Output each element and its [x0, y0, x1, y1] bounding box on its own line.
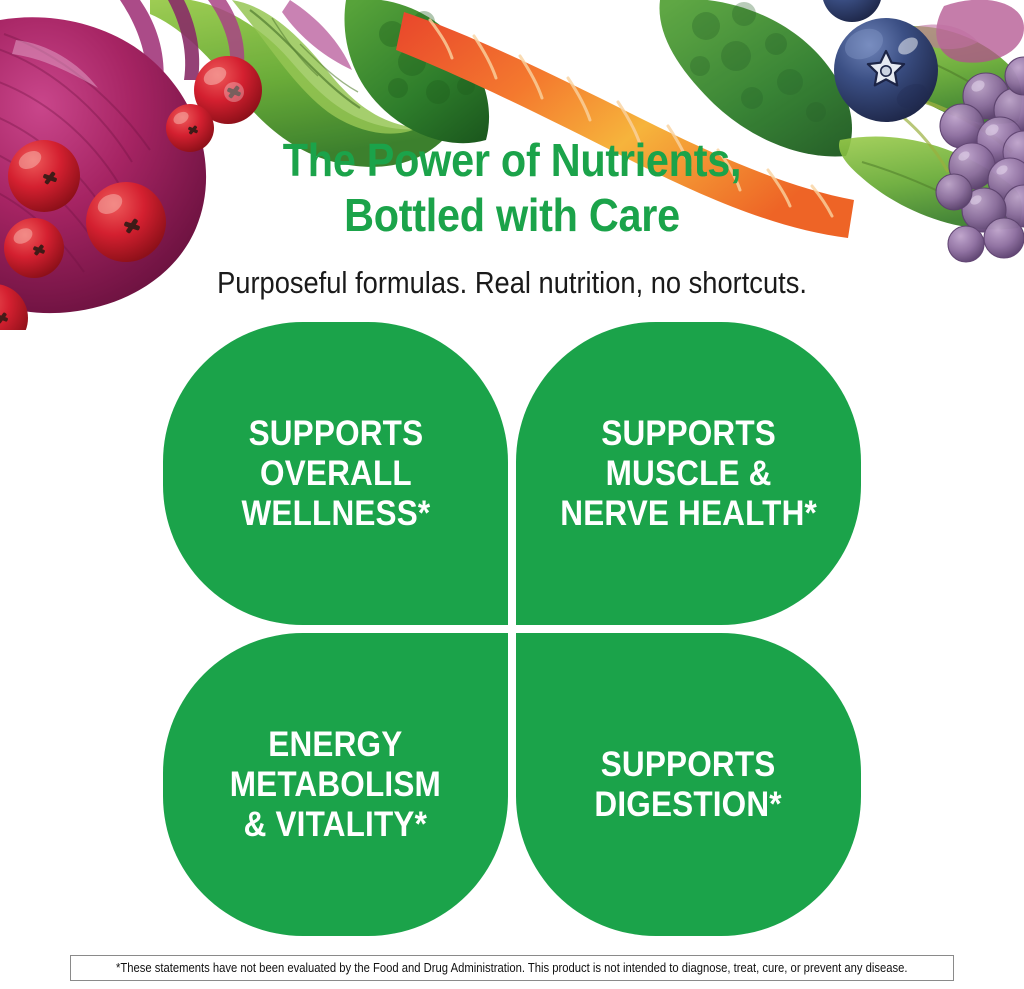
page-title: The Power of Nutrients, Bottled with Car…	[0, 133, 1024, 243]
blueberry-illustration	[834, 18, 938, 122]
fda-disclaimer-text: *These statements have not been evaluate…	[116, 961, 908, 975]
benefit-petal-label: SUPPORTS OVERALL WELLNESS*	[241, 414, 430, 534]
benefit-petal-label: SUPPORTS DIGESTION*	[595, 745, 782, 825]
blueberry-illustration	[822, 0, 882, 22]
benefit-petal-label: ENERGY METABOLISM & VITALITY*	[230, 725, 441, 845]
benefits-clover: SUPPORTS OVERALL WELLNESS* SUPPORTS MUSC…	[163, 322, 861, 936]
promo-graphic: The Power of Nutrients, Bottled with Car…	[0, 0, 1024, 989]
headline-line-1: The Power of Nutrients,	[51, 133, 973, 188]
benefit-petal-supports-muscle-nerve-health[interactable]: SUPPORTS MUSCLE & NERVE HEALTH*	[516, 322, 861, 625]
benefit-petal-label: SUPPORTS MUSCLE & NERVE HEALTH*	[560, 414, 817, 534]
benefit-petal-supports-digestion[interactable]: SUPPORTS DIGESTION*	[516, 633, 861, 936]
broccoli-illustration	[344, 0, 489, 143]
fda-disclaimer-box: *These statements have not been evaluate…	[70, 955, 954, 981]
benefit-petal-supports-overall-wellness[interactable]: SUPPORTS OVERALL WELLNESS*	[163, 322, 508, 625]
subtitle: Purposeful formulas. Real nutrition, no …	[61, 264, 962, 302]
benefit-petal-energy-metabolism-vitality[interactable]: ENERGY METABOLISM & VITALITY*	[163, 633, 508, 936]
headline-line-2: Bottled with Care	[51, 188, 973, 243]
